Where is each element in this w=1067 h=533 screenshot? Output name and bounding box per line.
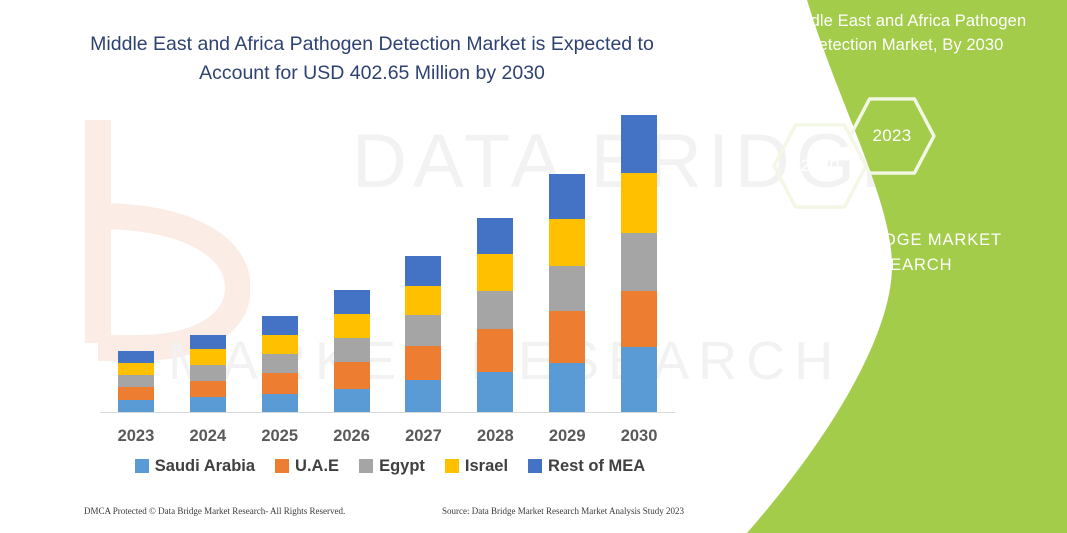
x-axis-tick-label: 2027 bbox=[390, 427, 456, 446]
stacked-bar bbox=[334, 290, 370, 413]
bar-segment bbox=[405, 315, 441, 345]
bar-group bbox=[100, 110, 675, 413]
stacked-bar bbox=[262, 316, 298, 413]
footer: DMCA Protected © Data Bridge Market Rese… bbox=[84, 506, 684, 516]
bar-segment bbox=[405, 346, 441, 381]
bar-segment bbox=[334, 290, 370, 314]
x-axis-tick-label: 2026 bbox=[319, 427, 385, 446]
bar-segment bbox=[118, 375, 154, 388]
stacked-bar bbox=[477, 218, 513, 413]
bar-segment bbox=[405, 256, 441, 286]
bar-segment bbox=[262, 316, 298, 334]
stacked-bar bbox=[621, 115, 657, 413]
bar-segment bbox=[405, 286, 441, 316]
legend-item[interactable]: Egypt bbox=[359, 457, 425, 476]
bar-segment bbox=[549, 219, 585, 266]
bar-segment bbox=[190, 365, 226, 381]
stacked-bar bbox=[405, 256, 441, 413]
hexagon-badge-right: 2023 bbox=[847, 96, 937, 176]
infographic-canvas: DATA BRIDGE MARKET RESEARCH Middle East … bbox=[0, 0, 1067, 533]
legend-swatch bbox=[445, 459, 459, 473]
bar-column bbox=[462, 110, 528, 413]
bar-segment bbox=[190, 335, 226, 350]
stacked-bar bbox=[549, 174, 585, 413]
axis-baseline bbox=[100, 412, 675, 413]
chart-plot-area bbox=[100, 110, 675, 413]
bar-segment bbox=[477, 372, 513, 413]
legend-swatch bbox=[359, 459, 373, 473]
x-axis-tick-label: 2028 bbox=[462, 427, 528, 446]
brand-name: DATA BRIDGE MARKET RESEARCH bbox=[753, 228, 1053, 278]
bar-segment bbox=[405, 380, 441, 413]
x-axis-labels: 20232024202520262027202820292030 bbox=[100, 423, 675, 449]
legend-swatch bbox=[528, 459, 542, 473]
bar-segment bbox=[549, 311, 585, 363]
bar-segment bbox=[118, 351, 154, 363]
stacked-bar bbox=[190, 335, 226, 413]
x-axis-tick-label: 2030 bbox=[606, 427, 672, 446]
bar-segment bbox=[549, 363, 585, 413]
bar-segment bbox=[621, 173, 657, 234]
bar-segment bbox=[549, 266, 585, 311]
legend-item[interactable]: Rest of MEA bbox=[528, 457, 645, 476]
footer-copyright: DMCA Protected © Data Bridge Market Rese… bbox=[84, 506, 345, 516]
bar-segment bbox=[334, 389, 370, 413]
legend-label: U.A.E bbox=[295, 457, 339, 476]
bar-segment bbox=[621, 115, 657, 173]
x-axis-tick-label: 2023 bbox=[103, 427, 169, 446]
bar-segment bbox=[477, 218, 513, 254]
bar-segment bbox=[549, 174, 585, 220]
bar-segment bbox=[190, 349, 226, 365]
bar-segment bbox=[262, 354, 298, 373]
bar-column bbox=[606, 110, 672, 413]
legend-item[interactable]: Israel bbox=[445, 457, 508, 476]
chart-legend: Saudi ArabiaU.A.EEgyptIsraelRest of MEA bbox=[100, 452, 680, 480]
legend-label: Rest of MEA bbox=[548, 457, 645, 476]
bar-segment bbox=[334, 314, 370, 338]
bar-segment bbox=[334, 338, 370, 362]
bar-column bbox=[175, 110, 241, 413]
bar-segment bbox=[118, 363, 154, 375]
bar-segment bbox=[477, 291, 513, 329]
bar-column bbox=[103, 110, 169, 413]
x-axis-tick-label: 2025 bbox=[247, 427, 313, 446]
x-axis-tick-label: 2024 bbox=[175, 427, 241, 446]
legend-swatch bbox=[275, 459, 289, 473]
panel-title: Middle East and Africa Pathogen Detectio… bbox=[755, 10, 1055, 58]
bar-segment bbox=[621, 233, 657, 291]
bar-segment bbox=[621, 291, 657, 347]
bar-segment bbox=[262, 335, 298, 354]
legend-label: Israel bbox=[465, 457, 508, 476]
bar-segment bbox=[334, 362, 370, 389]
legend-item[interactable]: Saudi Arabia bbox=[135, 457, 255, 476]
bar-segment bbox=[477, 329, 513, 372]
bar-segment bbox=[262, 373, 298, 394]
bar-segment bbox=[262, 394, 298, 413]
hexagon-right-label: 2023 bbox=[847, 96, 937, 176]
bar-segment bbox=[190, 397, 226, 413]
bar-segment bbox=[118, 387, 154, 400]
stacked-bar bbox=[118, 351, 154, 413]
bar-segment bbox=[621, 347, 657, 413]
bar-column bbox=[534, 110, 600, 413]
footer-source: Source: Data Bridge Market Research Mark… bbox=[442, 506, 684, 516]
bar-segment bbox=[477, 254, 513, 291]
x-axis-tick-label: 2029 bbox=[534, 427, 600, 446]
legend-item[interactable]: U.A.E bbox=[275, 457, 339, 476]
bar-column bbox=[319, 110, 385, 413]
chart-title: Middle East and Africa Pathogen Detectio… bbox=[72, 30, 672, 89]
bar-column bbox=[390, 110, 456, 413]
legend-label: Saudi Arabia bbox=[155, 457, 255, 476]
legend-swatch bbox=[135, 459, 149, 473]
legend-label: Egypt bbox=[379, 457, 425, 476]
bar-column bbox=[247, 110, 313, 413]
bar-segment bbox=[118, 400, 154, 413]
bar-segment bbox=[190, 381, 226, 397]
hexagon-badges: 2030 2023 bbox=[751, 96, 1051, 216]
